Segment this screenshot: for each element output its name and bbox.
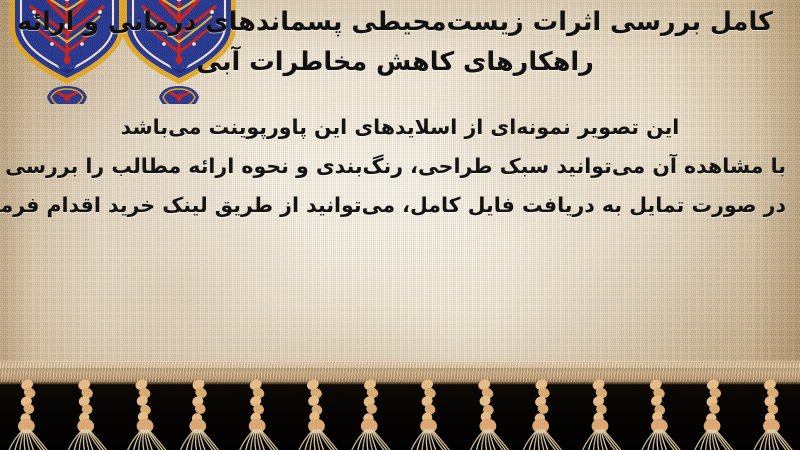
slide-title: کامل بررسی اثرات زیست‌محیطی پسماندهای در… — [8, 2, 792, 82]
fringe-tassel — [583, 378, 626, 450]
slide-body: این تصویر نمونه‌ای از اسلایدهای این پاور… — [0, 108, 800, 225]
body-line-2: با مشاهده آن می‌توانید سبک طراحی، رنگ‌بن… — [14, 147, 786, 186]
fringe-tassel — [9, 378, 52, 450]
fringe-tassel — [128, 378, 171, 450]
fringe-tassel — [642, 378, 685, 450]
body-line-1: این تصویر نمونه‌ای از اسلایدهای این پاور… — [14, 108, 786, 147]
fringe-tassel — [754, 378, 797, 450]
fringe-tassel — [523, 378, 566, 450]
fringe-tassel — [471, 378, 514, 450]
title-line-1: کامل بررسی اثرات زیست‌محیطی پسماندهای در… — [8, 2, 782, 42]
fringe-tassel — [352, 378, 395, 450]
fringe-tassel — [180, 378, 223, 450]
body-line-3: در صورت تمایل به دریافت فایل کامل، می‌تو… — [14, 186, 786, 225]
fringe-tassel — [68, 378, 111, 450]
title-line-2: راهکارهای کاهش مخاطرات آبی — [8, 42, 782, 82]
carpet-fringe-tassels — [0, 340, 800, 450]
fringe-tassel — [695, 378, 738, 450]
fringe-tassel — [240, 378, 283, 450]
carpet-fringe-zone — [0, 340, 800, 450]
presentation-slide: کامل بررسی اثرات زیست‌محیطی پسماندهای در… — [0, 0, 800, 450]
fringe-tassel — [299, 378, 342, 450]
fringe-tassel — [411, 378, 454, 450]
